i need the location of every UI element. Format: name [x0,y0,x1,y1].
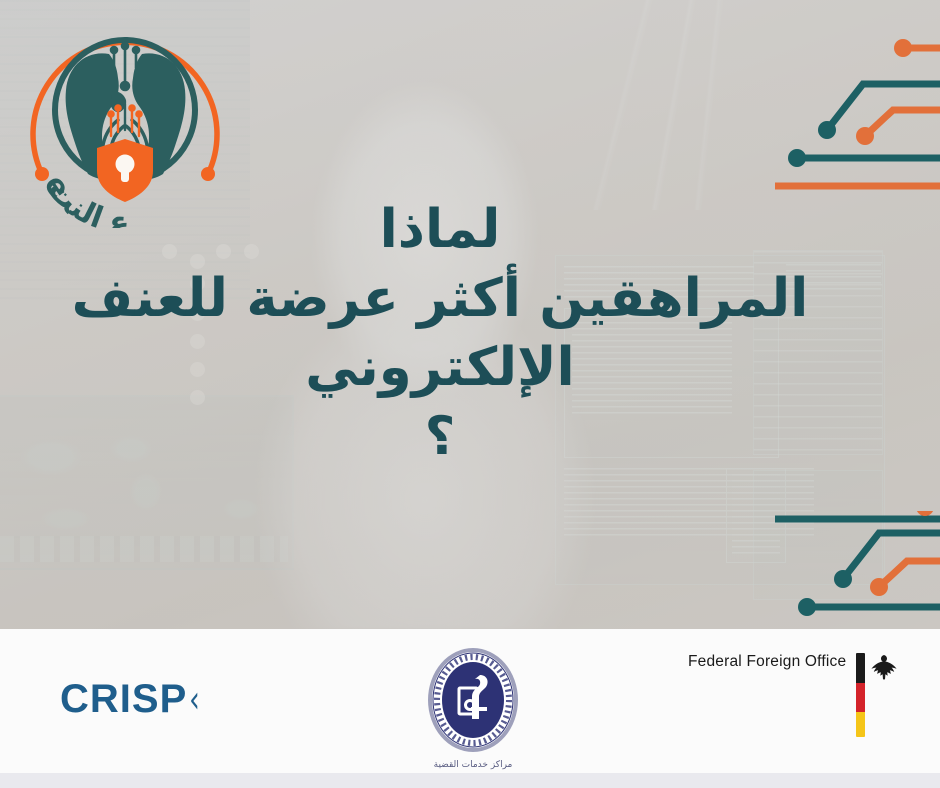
german-flag-bar [856,653,865,737]
headline-line-4: ؟ [0,403,880,472]
poster-canvas: Safe ع النت لماذا المراهقين أكثر عرضة لل… [0,0,940,788]
headline-line-2: المراهقين أكثر عرضة للعنف [0,265,880,334]
safe-internet-logo: Safe ع النت [14,6,236,228]
ffo-wordmark: Federal Foreign Office [688,653,846,671]
headline-line-1: لماذا [0,196,880,265]
partner-logo-footer: › CRISP مراكز [0,629,940,773]
poster-headline: لماذا المراهقين أكثر عرضة للعنف الإلكترو… [0,196,880,472]
bottom-strip [0,773,940,788]
seal-emblem-icon [424,645,522,755]
headline-line-3: الإلكتروني [0,334,880,403]
logo-shield-lock-icon [97,139,153,202]
logo-federal-foreign-office: Federal Foreign Office [688,651,901,737]
logo-counselling-centers: مراكز خدمات القضية [424,645,522,770]
crisp-wordmark: CRISP [60,679,187,719]
crisp-chevron-icon: › [189,681,200,718]
german-eagle-icon [865,651,901,685]
logo-crisp: › CRISP [60,679,202,719]
hero-image-area: Safe ع النت لماذا المراهقين أكثر عرضة لل… [0,0,940,629]
seal-caption: مراكز خدمات القضية [434,760,513,770]
